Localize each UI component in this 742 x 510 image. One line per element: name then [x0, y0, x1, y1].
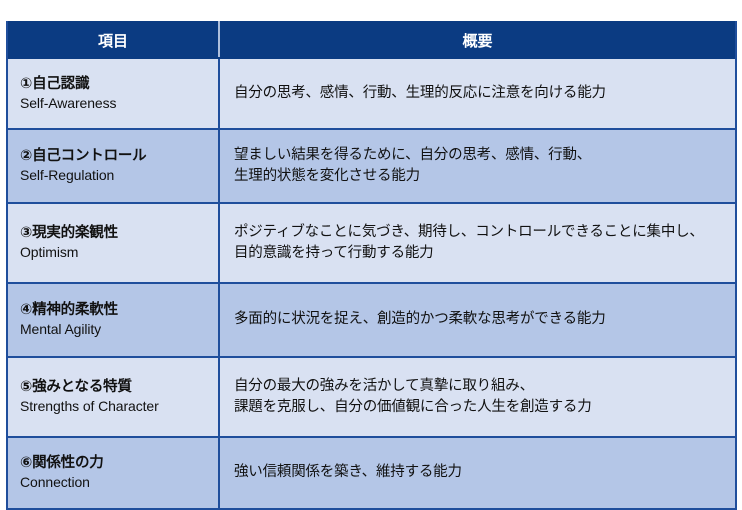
table-row: ②自己コントロール Self-Regulation 望ましい結果を得るために、自… — [8, 129, 735, 203]
item-cell: ⑤強みとなる特質 Strengths of Character — [8, 357, 219, 437]
summary-line: 課題を克服し、自分の価値観に合った人生を創造する力 — [234, 397, 725, 418]
summary-cell: ポジティブなことに気づき、期待し、コントロールできることに集中し、 目的意識を持… — [219, 203, 735, 283]
item-label-ja: ④精神的柔軟性 — [20, 301, 218, 320]
column-header-item: 項目 — [8, 22, 219, 58]
item-label-ja: ⑥関係性の力 — [20, 454, 218, 473]
item-cell: ①自己認識 Self-Awareness — [8, 58, 219, 129]
item-label-ja: ⑤強みとなる特質 — [20, 378, 218, 397]
table-row: ⑤強みとなる特質 Strengths of Character 自分の最大の強み… — [8, 357, 735, 437]
item-label-en: Strengths of Character — [20, 397, 218, 416]
item-cell: ②自己コントロール Self-Regulation — [8, 129, 219, 203]
summary-cell: 自分の思考、感情、行動、生理的反応に注意を向ける能力 — [219, 58, 735, 129]
column-header-summary: 概要 — [219, 22, 735, 58]
resilience-competency-table: 項目 概要 ①自己認識 Self-Awareness 自分の思考、感情、行動、生… — [8, 21, 735, 510]
summary-cell: 望ましい結果を得るために、自分の思考、感情、行動、 生理的状態を変化させる能力 — [219, 129, 735, 203]
table-body: ①自己認識 Self-Awareness 自分の思考、感情、行動、生理的反応に注… — [8, 58, 735, 509]
item-cell: ③現実的楽観性 Optimism — [8, 203, 219, 283]
summary-line: 自分の最大の強みを活かして真摯に取り組み、 — [234, 376, 725, 397]
summary-line: 強い信頼関係を築き、維持する能力 — [234, 462, 725, 483]
item-label-ja: ③現実的楽観性 — [20, 224, 218, 243]
item-label-en: Optimism — [20, 243, 218, 262]
summary-line: 望ましい結果を得るために、自分の思考、感情、行動、 — [234, 145, 725, 166]
summary-line: 目的意識を持って行動する能力 — [234, 243, 725, 264]
item-label-en: Self-Awareness — [20, 94, 218, 113]
summary-cell: 自分の最大の強みを活かして真摯に取り組み、 課題を克服し、自分の価値観に合った人… — [219, 357, 735, 437]
item-label-en: Mental Agility — [20, 320, 218, 339]
summary-line: 自分の思考、感情、行動、生理的反応に注意を向ける能力 — [234, 83, 725, 104]
item-label-en: Connection — [20, 473, 218, 492]
item-cell: ④精神的柔軟性 Mental Agility — [8, 283, 219, 357]
summary-line: 多面的に状況を捉え、創造的かつ柔軟な思考ができる能力 — [234, 309, 725, 330]
table-header: 項目 概要 — [8, 22, 735, 58]
summary-line: ポジティブなことに気づき、期待し、コントロールできることに集中し、 — [234, 222, 725, 243]
item-label-ja: ①自己認識 — [20, 75, 218, 94]
header-row: 項目 概要 — [8, 22, 735, 58]
table-row: ③現実的楽観性 Optimism ポジティブなことに気づき、期待し、コントロール… — [8, 203, 735, 283]
table-row: ①自己認識 Self-Awareness 自分の思考、感情、行動、生理的反応に注… — [8, 58, 735, 129]
table-row: ④精神的柔軟性 Mental Agility 多面的に状況を捉え、創造的かつ柔軟… — [8, 283, 735, 357]
item-label-en: Self-Regulation — [20, 166, 218, 185]
item-label-ja: ②自己コントロール — [20, 147, 218, 166]
summary-cell: 多面的に状況を捉え、創造的かつ柔軟な思考ができる能力 — [219, 283, 735, 357]
resilience-competency-table-container: 項目 概要 ①自己認識 Self-Awareness 自分の思考、感情、行動、生… — [6, 21, 737, 510]
summary-line: 生理的状態を変化させる能力 — [234, 166, 725, 187]
